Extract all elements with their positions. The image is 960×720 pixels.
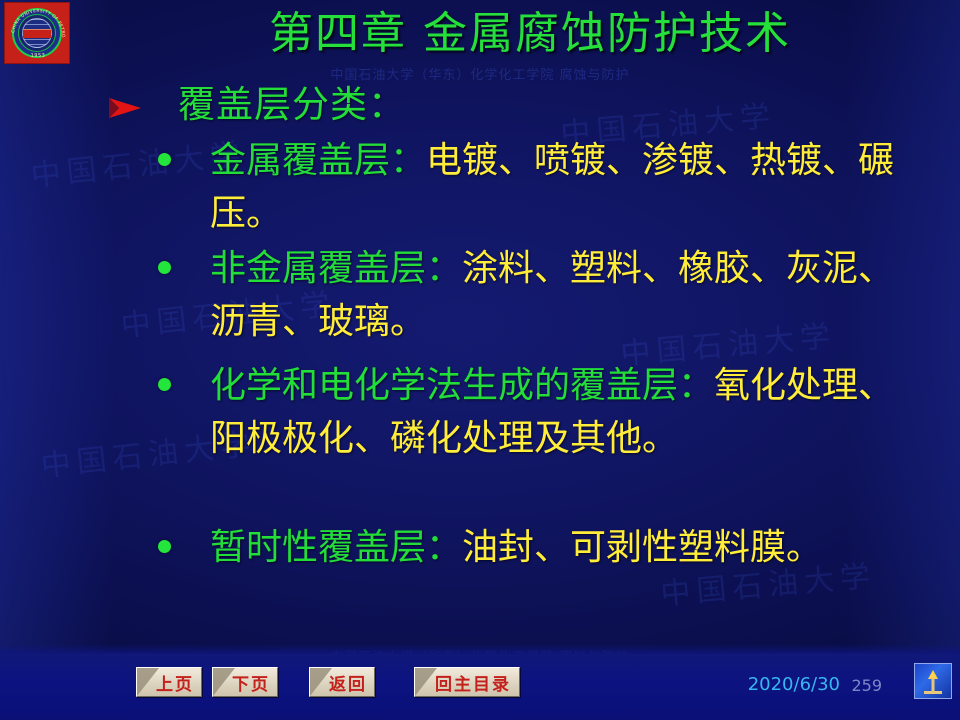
main-menu-button[interactable]: 回主目录	[414, 667, 520, 697]
bullet-category-4: 暂时性覆盖层：	[210, 527, 462, 568]
bullet-item-2: 非金属覆盖层：涂料、塑料、橡胶、灰泥、沥青、玻璃。	[0, 242, 960, 357]
bullet-text-2: 非金属覆盖层：涂料、塑料、橡胶、灰泥、沥青、玻璃。	[210, 242, 928, 348]
lamp-stem	[932, 678, 935, 692]
lamp-stand	[924, 691, 942, 694]
lead-text: 覆盖层分类：	[178, 82, 406, 128]
bullet-item-4: 暂时性覆盖层：油封、可剥性塑料膜。	[0, 521, 960, 627]
svg-text:CHINA UNIVERSITY OF PETROLEUM: CHINA UNIVERSITY OF PETROLEUM	[5, 3, 66, 38]
bullet-category-1: 金属覆盖层：	[210, 140, 426, 181]
next-page-button[interactable]: 下页	[212, 667, 278, 697]
bullet-category-2: 非金属覆盖层：	[210, 248, 462, 289]
next-page-label: 下页	[213, 668, 277, 696]
bottom-strip-fade	[0, 644, 960, 654]
bullet-dot-icon	[158, 153, 171, 166]
main-menu-label: 回主目录	[415, 668, 519, 696]
page-title: 第四章 金属腐蚀防护技术	[150, 6, 910, 62]
red-arrow-bullet-icon	[108, 97, 142, 119]
logo-year: 1953	[5, 53, 70, 59]
university-logo: CHINA UNIVERSITY OF PETROLEUM 1953	[4, 2, 70, 64]
presentation-slide: 中国石油大学 中国石油大学 中国石油大学 中国石油大学 中国石油大学 中国石油大…	[0, 0, 960, 720]
lamp-icon	[914, 663, 952, 699]
bullet-category-3: 化学和电化学法生成的覆盖层：	[210, 365, 714, 406]
prev-page-label: 上页	[137, 668, 201, 696]
back-label: 返回	[310, 668, 374, 696]
bullet-dot-icon	[158, 378, 171, 391]
back-button[interactable]: 返回	[309, 667, 375, 697]
bullet-dot-icon	[158, 261, 171, 274]
prev-page-button[interactable]: 上页	[136, 667, 202, 697]
bullet-text-4: 暂时性覆盖层：油封、可剥性塑料膜。	[210, 521, 928, 574]
bullet-item-1: 金属覆盖层：电镀、喷镀、渗镀、热镀、碾压。	[0, 134, 960, 240]
footer-date: 2020/6/30	[748, 674, 840, 695]
page-number: 259	[851, 676, 882, 695]
bullet-dot-icon	[158, 540, 171, 553]
bullet-text-1: 金属覆盖层：电镀、喷镀、渗镀、热镀、碾压。	[210, 134, 928, 240]
slide-content: 覆盖层分类： 金属覆盖层：电镀、喷镀、渗镀、热镀、碾压。 非金属覆盖层：涂料、塑…	[0, 82, 960, 629]
bullet-items-4: 油封、可剥性塑料膜。	[462, 527, 822, 568]
lead-row: 覆盖层分类：	[0, 82, 960, 134]
bullet-text-3: 化学和电化学法生成的覆盖层：氧化处理、阳极极化、磷化处理及其他。	[210, 359, 928, 465]
bullet-item-3: 化学和电化学法生成的覆盖层：氧化处理、阳极极化、磷化处理及其他。	[0, 359, 960, 519]
navigation-bar: 上页 下页 返回 回主目录 2020/6/30 259	[0, 654, 960, 720]
